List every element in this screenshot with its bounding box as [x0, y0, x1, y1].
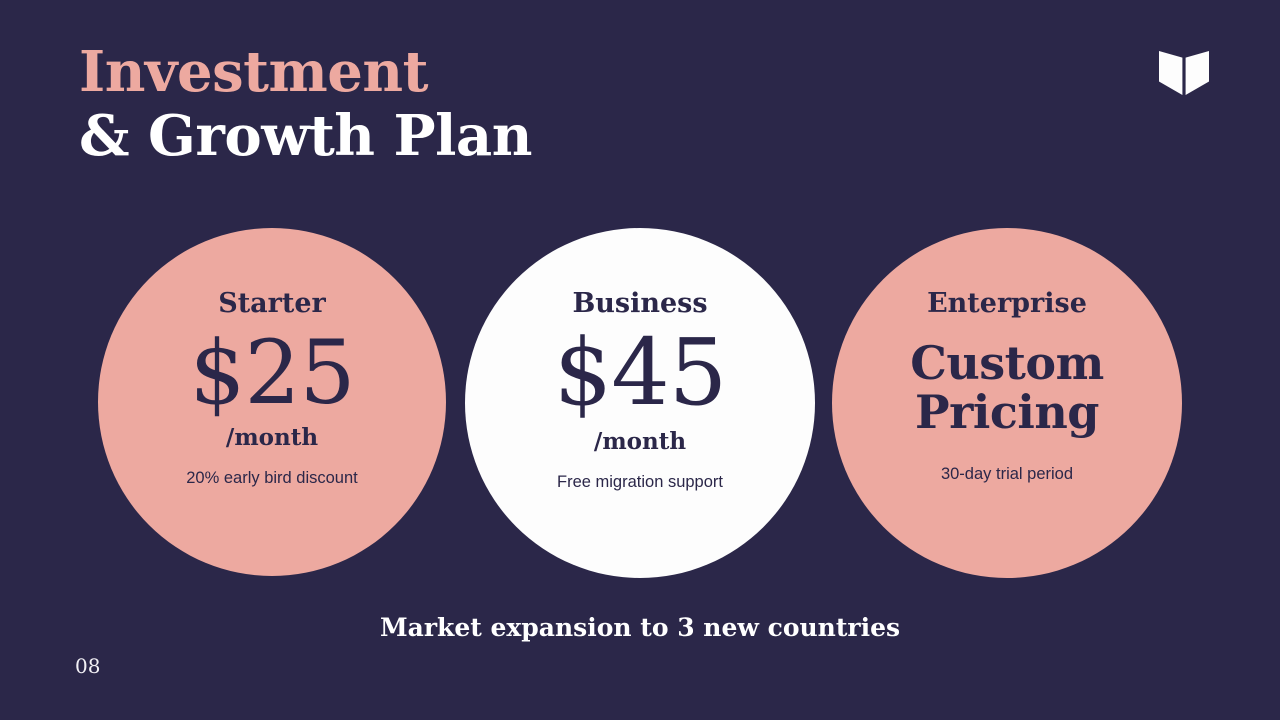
pricing-circle-starter[interactable]: Starter $25 /month 20% early bird discou…: [98, 228, 446, 576]
plan-period-starter: /month: [226, 426, 318, 449]
pricing-circles: Starter $25 /month 20% early bird discou…: [0, 0, 1280, 720]
plan-price-enterprise-line-1: Custom: [910, 339, 1104, 388]
plan-note-enterprise: 30-day trial period: [941, 463, 1073, 487]
plan-name-starter: Starter: [218, 290, 326, 317]
pricing-circle-business[interactable]: Business $45 /month Free migration suppo…: [465, 228, 815, 578]
slide-root: Investment & Growth Plan Starter $25 /mo…: [0, 0, 1280, 720]
plan-name-business: Business: [572, 290, 707, 317]
plan-note-starter: 20% early bird discount: [186, 467, 358, 491]
page-number: 08: [75, 654, 100, 678]
plan-price-enterprise-line-2: Pricing: [910, 388, 1104, 437]
plan-price-business: $45: [554, 323, 727, 422]
plan-price-starter: $25: [190, 325, 355, 420]
plan-price-enterprise: Custom Pricing: [910, 339, 1104, 437]
plan-name-enterprise: Enterprise: [927, 290, 1087, 317]
pricing-circle-enterprise[interactable]: Enterprise Custom Pricing 30-day trial p…: [832, 228, 1182, 578]
plan-period-business: /month: [594, 430, 686, 453]
plan-note-business: Free migration support: [557, 471, 723, 495]
footer-caption: Market expansion to 3 new countries: [0, 613, 1280, 642]
